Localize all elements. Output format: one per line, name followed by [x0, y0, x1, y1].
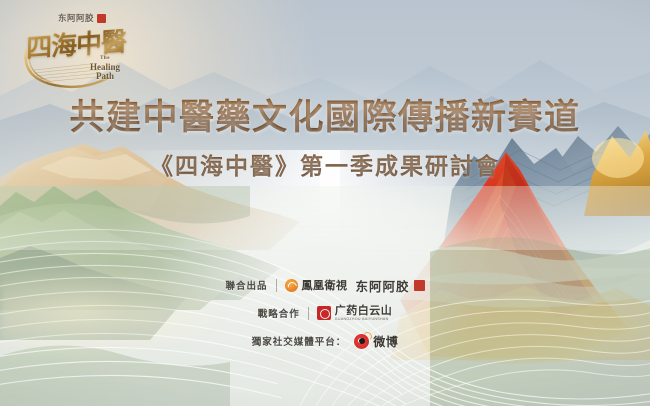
divider — [308, 307, 309, 320]
sponsor-brand: 广药白云山 GUANGZHOU BAIYUNSHAN — [317, 305, 393, 322]
sponsor-row: 獨家社交媒體平台： 微博 — [252, 332, 399, 350]
title-block: 共建中醫藥文化國際傳播新賽道 《四海中醫》第一季成果研討會 — [0, 96, 650, 182]
sponsor-row-label: 獨家社交媒體平台： — [252, 334, 347, 348]
sub-title: 《四海中醫》第一季成果研討會 — [0, 152, 650, 182]
sponsor-brand-name: 微博 — [373, 333, 398, 350]
sponsor-row: 戰略合作 广药白云山 GUANGZHOU BAIYUNSHAN — [258, 304, 393, 322]
sponsor-brand-name: 广药白云山 — [335, 305, 393, 318]
sponsor-brand-text: 广药白云山 GUANGZHOU BAIYUNSHAN — [335, 305, 393, 322]
event-poster: 东阿阿胶 — [0, 0, 650, 406]
sponsor-brand: 东阿阿胶 — [356, 276, 425, 295]
main-title: 共建中醫藥文化國際傳播新賽道 — [0, 96, 650, 140]
logo-english-title: The Healing Path — [76, 54, 134, 81]
sponsor-brand: 鳳凰衛視 — [285, 277, 348, 293]
logo-en-line2: Path — [96, 71, 114, 81]
sponsor-row: 聯合出品 鳳凰衛視 东阿阿胶 — [225, 276, 424, 294]
sponsor-row-label: 聯合出品 — [225, 278, 267, 292]
sponsor-brand: 微博 — [354, 333, 398, 350]
sponsor-brand-name: 东阿阿胶 — [356, 276, 410, 295]
weibo-eye-icon — [354, 334, 369, 349]
sponsor-brand-name: 鳳凰衛視 — [302, 277, 348, 293]
program-logo: 东阿阿胶 — [16, 8, 146, 92]
sponsor-block: 聯合出品 鳳凰衛視 东阿阿胶 戰略合作 广药白云山 GUANGZHOU BAIY… — [0, 276, 650, 350]
sponsor-brand-subname: GUANGZHOU BAIYUNSHAN — [335, 317, 393, 321]
baiyunshan-badge-icon — [317, 306, 331, 320]
divider — [276, 279, 277, 292]
red-square-icon — [414, 280, 425, 291]
sponsor-row-label: 戰略合作 — [258, 306, 300, 320]
phoenix-spiral-icon — [285, 279, 298, 292]
